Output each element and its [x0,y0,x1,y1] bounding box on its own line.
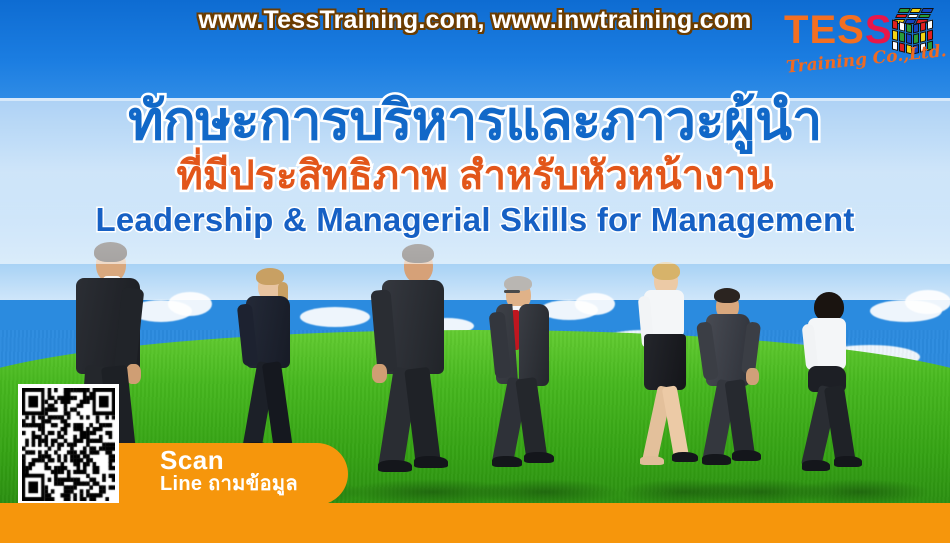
cloud-puff [300,307,370,327]
shoe [834,456,862,467]
title-thai-line1: ทักษะการบริหารและภาวะผู้นำ [0,92,950,150]
hair [504,276,532,291]
title-block: ทักษะการบริหารและภาวะผู้นำ ที่มีประสิทธิ… [0,92,950,239]
torso-suit-right [519,304,549,386]
shoe [378,460,412,472]
poster-root: ทักษะการบริหารและภาวะผู้นำ ที่มีประสิทธิ… [0,0,950,543]
hand [372,364,387,383]
qr-code[interactable] [18,384,119,505]
qr-code-canvas [22,388,115,501]
shoe [732,450,761,461]
cloud-puff [905,290,950,314]
shoe [702,454,731,465]
bottom-url-bar [0,503,950,543]
hand [746,368,759,385]
shoe [640,456,664,465]
website-urls[interactable]: www.TessTraining.com, www.inwtraining.co… [0,0,950,40]
shoe [524,452,554,463]
shoe [672,452,698,462]
cloud-puff [168,292,212,316]
figure-shadow [470,479,620,505]
shoe [414,456,448,468]
cloud-puff [575,293,615,315]
scan-badge-text: Scan Line ถามข้อมูล [160,447,298,495]
title-thai-line2: ที่มีประสิทธิภาพ สำหรับหัวหน้างาน [0,154,950,198]
glasses-icon [504,290,520,293]
shoe [492,456,522,467]
shoe [802,460,830,471]
scan-label: Scan [160,447,298,474]
title-english: Leadership & Managerial Skills for Manag… [0,202,950,238]
skirt [644,334,686,390]
hair [714,288,740,303]
scan-line-label: Line ถามข้อมูล [160,474,298,495]
hair [652,262,680,280]
figure-shadow [790,479,930,505]
